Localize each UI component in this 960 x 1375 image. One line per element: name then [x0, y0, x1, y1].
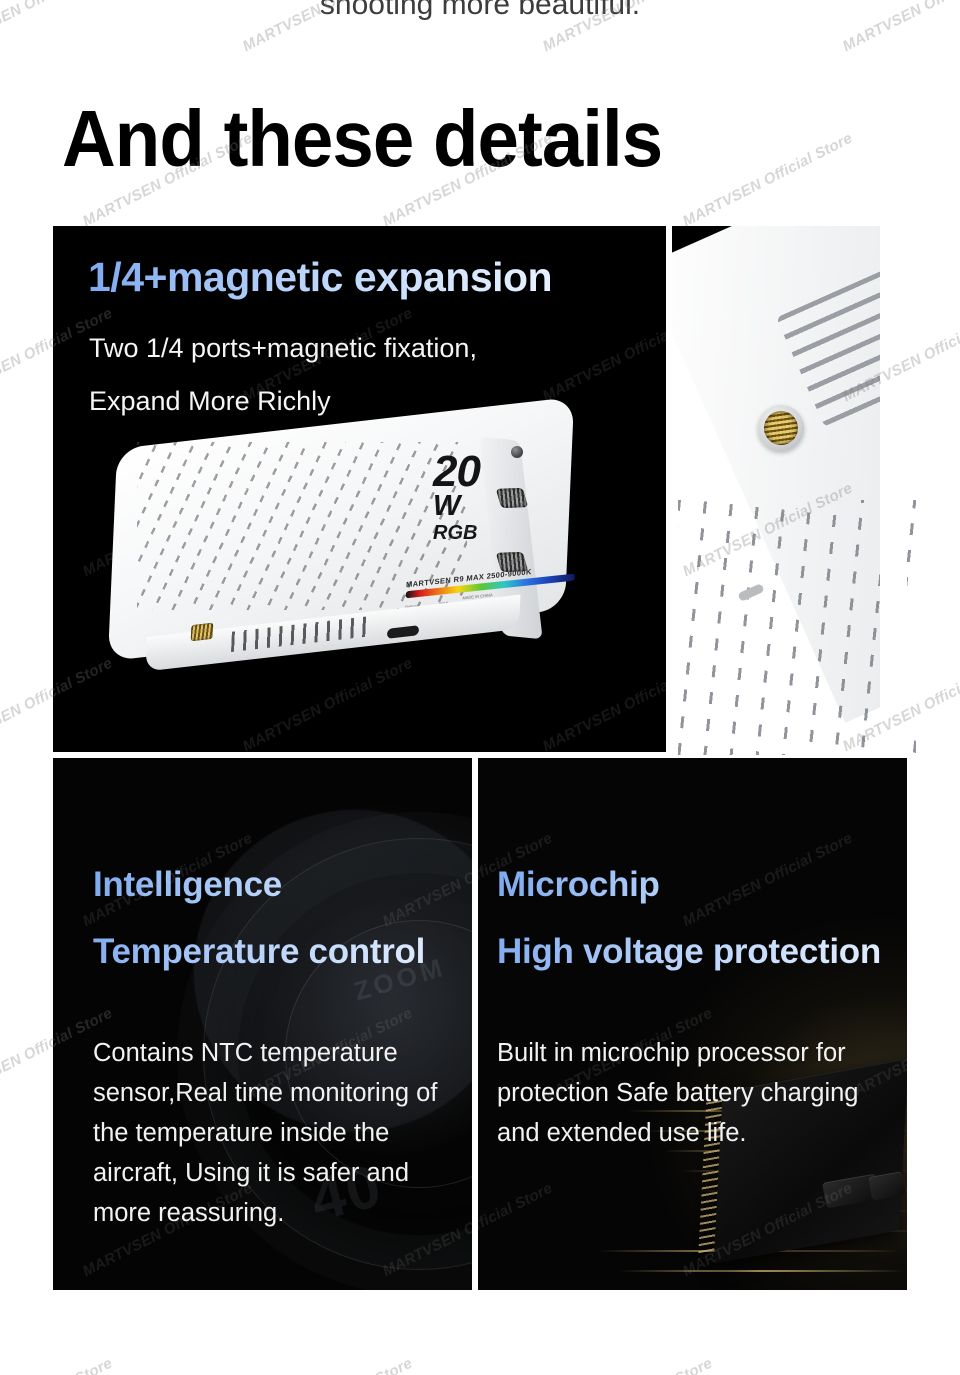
- microchip-body-text: Built in microchip processor for protect…: [497, 1033, 907, 1153]
- microchip-card-background: [478, 758, 907, 1290]
- temperature-heading: Intelligence Temperature control: [93, 851, 472, 985]
- microchip-heading: Microchip High voltage protection: [497, 851, 907, 985]
- card-microchip-protection: Microchip High voltage protection Built …: [478, 758, 907, 1290]
- temperature-heading-line-2: Temperature control: [93, 918, 472, 985]
- bottom-tripod-thread-icon: [191, 623, 214, 642]
- expansion-subtext-line-1: Two 1/4 ports+magnetic fixation,: [89, 322, 649, 375]
- product-image-light-panel: 20 W RGB MARTVSEN R9 MAX 2500-9000K Batt…: [111, 424, 601, 704]
- badge-power-value: 20: [433, 450, 543, 494]
- watermark-text: MARTVSEN Official Store: [840, 1355, 960, 1375]
- closeup-white-margin: [880, 226, 907, 752]
- temperature-body-text: Contains NTC temperature sensor,Real tim…: [93, 1033, 463, 1233]
- watermark-text: MARTVSEN Official Store: [680, 130, 855, 231]
- thread-grooves: [764, 411, 798, 445]
- badge-color-mode: RGB: [433, 523, 543, 543]
- watermark-text: MARTVSEN Official Store: [0, 1355, 115, 1375]
- expansion-heading: 1/4+magnetic expansion: [88, 254, 552, 300]
- tripod-thread-socket-icon: [758, 405, 804, 451]
- microchip-heading-line-1: Microchip: [497, 851, 907, 918]
- card-expansion: 1/4+magnetic expansion Two 1/4 ports+mag…: [53, 226, 666, 752]
- badge-power-unit: W: [433, 492, 543, 521]
- temperature-heading-line-1: Intelligence: [93, 851, 472, 918]
- pcb-trace: [618, 1270, 904, 1272]
- watermark-text: MARTVSEN Official Store: [540, 1355, 715, 1375]
- microchip-heading-line-2: High voltage protection: [497, 918, 907, 985]
- card-temperature-control: ZOOM 40 Intelligence Temperature control…: [53, 758, 472, 1290]
- cut-off-tagline: shooting more beautiful.: [0, 0, 960, 22]
- page-title: And these details: [62, 96, 662, 182]
- watermark-text: MARTVSEN Official Store: [240, 1355, 415, 1375]
- product-power-badge: 20 W RGB: [433, 450, 543, 543]
